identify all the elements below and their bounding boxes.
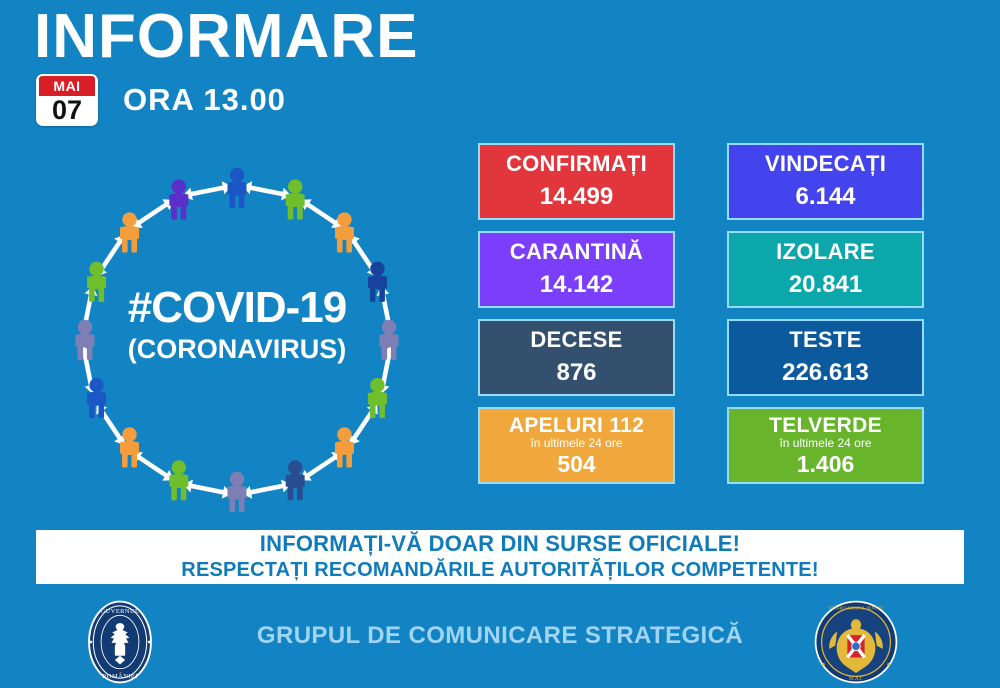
footer: GUVERNUL ROMÂNIEI DEPARTAMENTUL PENTRU [0,596,1000,688]
calendar-icon: MAI 07 [36,74,98,126]
stat-value-recovered: 6.144 [795,183,855,211]
footer-organization-label: GRUPUL DE COMUNICARE STRATEGICĂ [0,622,1000,650]
stat-label-deaths: DECESE [530,328,622,352]
stat-value-calls-112: 504 [557,451,595,477]
covid-circle-illustration: #COVID-19 (CORONAVIRUS) [22,155,452,525]
stat-note-calls-112: în ultimele 24 ore [530,437,622,450]
stat-card-calls-112[interactable]: APELURI 112 în ultimele 24 ore 504 [478,407,675,484]
banner-line-2: RESPECTAȚI RECOMANDĂRILE AUTORITĂȚILOR C… [181,559,818,582]
stat-value-isolation: 20.841 [789,271,862,299]
banner-line-1: INFORMAȚI-VĂ DOAR DIN SURSE OFICIALE! [260,532,740,556]
stat-label-confirmed: CONFIRMAȚI [506,152,647,176]
stat-card-quarantine[interactable]: CARANTINĂ 14.142 [478,231,675,308]
stat-value-quarantine: 14.142 [540,271,613,299]
svg-text:GUVERNUL: GUVERNUL [101,608,140,615]
svg-text:ROMÂNIEI: ROMÂNIEI [102,672,138,680]
official-sources-banner: INFORMAȚI-VĂ DOAR DIN SURSE OFICIALE! RE… [36,530,964,584]
stats-grid: CONFIRMAȚI 14.499 VINDECAȚI 6.144 CARANT… [478,143,938,484]
stat-card-tests[interactable]: TESTE 226.613 [727,319,924,396]
svg-text:M.A.I.: M.A.I. [849,676,863,682]
stat-card-deaths[interactable]: DECESE 876 [478,319,675,396]
stat-note-telverde: în ultimele 24 ore [779,437,871,450]
date-row: MAI 07 ORA 13.00 [36,74,286,126]
stat-card-recovered[interactable]: VINDECAȚI 6.144 [727,143,924,220]
stat-card-confirmed[interactable]: CONFIRMAȚI 14.499 [478,143,675,220]
people-figures [76,168,399,512]
svg-text:DEPARTAMENTUL PENTRU: DEPARTAMENTUL PENTRU [829,605,884,610]
calendar-day: 07 [36,96,98,125]
stat-label-isolation: IZOLARE [776,240,875,264]
stat-label-recovered: VINDECAȚI [765,152,886,176]
stat-card-isolation[interactable]: IZOLARE 20.841 [727,231,924,308]
stat-value-tests: 226.613 [782,359,869,387]
covid-informare-poster: INFORMARE MAI 07 ORA 13.00 [0,0,1000,688]
hour-label: ORA 13.00 [123,82,286,118]
stat-label-tests: TESTE [789,328,861,352]
page-title: INFORMARE [34,4,418,69]
stat-value-deaths: 876 [556,359,596,387]
header: INFORMARE MAI 07 ORA 13.00 [0,0,1000,135]
stat-card-telverde[interactable]: TELVERDE în ultimele 24 ore 1.406 [727,407,924,484]
people-circle-svg [22,155,452,525]
calendar-month: MAI [39,76,95,96]
stat-label-telverde: TELVERDE [769,414,882,437]
stat-value-confirmed: 14.499 [540,183,613,211]
stat-value-telverde: 1.406 [797,451,855,477]
stat-label-calls-112: APELURI 112 [509,414,644,437]
stat-label-quarantine: CARANTINĂ [510,240,643,264]
